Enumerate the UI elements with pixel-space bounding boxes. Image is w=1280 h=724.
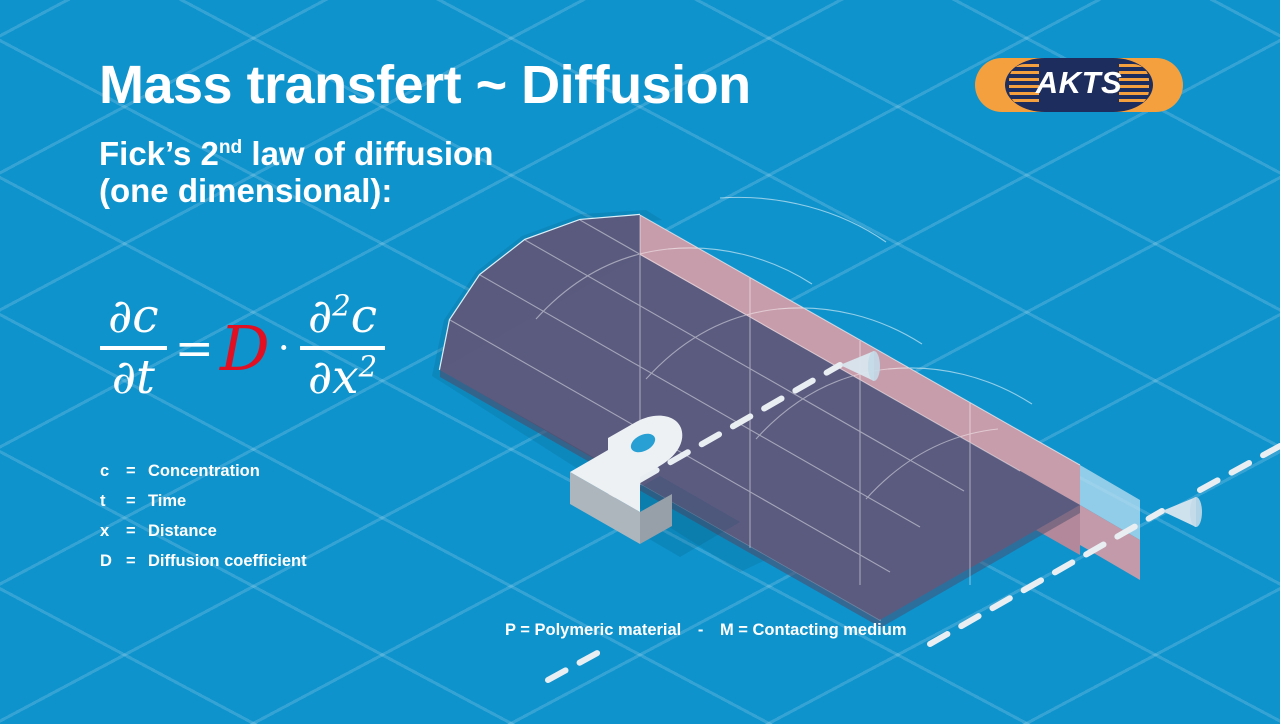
- legend-symbol: x: [100, 522, 126, 541]
- equation-rhs-denominator: ∂x2: [300, 353, 385, 404]
- legend-equals: =: [126, 552, 148, 571]
- legend-equals: =: [126, 522, 148, 541]
- equation-rhs-numerator: ∂2c: [300, 292, 385, 343]
- legend-equals: =: [126, 462, 148, 481]
- equation-rhs-denominator-exponent: 2: [359, 349, 378, 383]
- legend-item: D = Diffusion coefficient: [100, 552, 307, 571]
- legend-definition: Diffusion coefficient: [148, 552, 307, 571]
- page-subtitle: Fick’s 2nd law of diffusion (one dimensi…: [99, 136, 493, 210]
- infographic-canvas: DP KP,M Mass transfert ~ Diffusion Fick’…: [0, 0, 1280, 724]
- fick-second-law-equation: ∂c ∂t = D · ∂2c ∂x2: [100, 278, 385, 418]
- p-leader-line: [548, 646, 610, 680]
- legend-equals: =: [126, 492, 148, 511]
- diffusion-3d-diagram: DP KP,M: [440, 180, 1240, 630]
- ordinal-superscript: nd: [219, 137, 242, 158]
- equation-lhs-fraction: ∂c ∂t: [100, 292, 167, 404]
- page-title: Mass transfert ~ Diffusion: [99, 54, 751, 116]
- subtitle-line-2: (one dimensional):: [99, 173, 493, 210]
- equation-rhs-fraction: ∂2c ∂x2: [300, 292, 385, 404]
- legend-symbol: t: [100, 492, 126, 511]
- caption-left: P = Polymeric material: [505, 621, 681, 639]
- equation-equals-sign: =: [175, 321, 214, 376]
- logo-core-shape: AKTS: [1005, 58, 1153, 112]
- m-leader-line: [1200, 446, 1280, 490]
- equation-multiplication-dot: ·: [278, 326, 290, 370]
- equation-lhs-denominator: ∂t: [104, 353, 163, 404]
- legend-symbol: c: [100, 462, 126, 481]
- equation-rhs-numerator-exponent: 2: [332, 288, 351, 322]
- legend-item: c = Concentration: [100, 462, 307, 481]
- diagram-caption: P = Polymeric material - M = Contacting …: [505, 621, 907, 640]
- caption-right: M = Contacting medium: [720, 621, 907, 639]
- variable-legend: c = Concentration t = Time x = Distance …: [100, 462, 307, 582]
- equation-lhs-numerator: ∂c: [100, 292, 167, 343]
- legend-definition: Time: [148, 492, 186, 511]
- equation-diffusion-coefficient: D: [220, 312, 270, 385]
- legend-item: x = Distance: [100, 522, 307, 541]
- akts-logo[interactable]: AKTS: [975, 58, 1183, 112]
- logo-wordmark: AKTS: [1005, 65, 1153, 101]
- subtitle-line-1: Fick’s 2nd law of diffusion: [99, 136, 493, 173]
- legend-symbol: D: [100, 552, 126, 571]
- caption-separator: -: [686, 621, 716, 640]
- legend-definition: Concentration: [148, 462, 260, 481]
- legend-definition: Distance: [148, 522, 217, 541]
- legend-item: t = Time: [100, 492, 307, 511]
